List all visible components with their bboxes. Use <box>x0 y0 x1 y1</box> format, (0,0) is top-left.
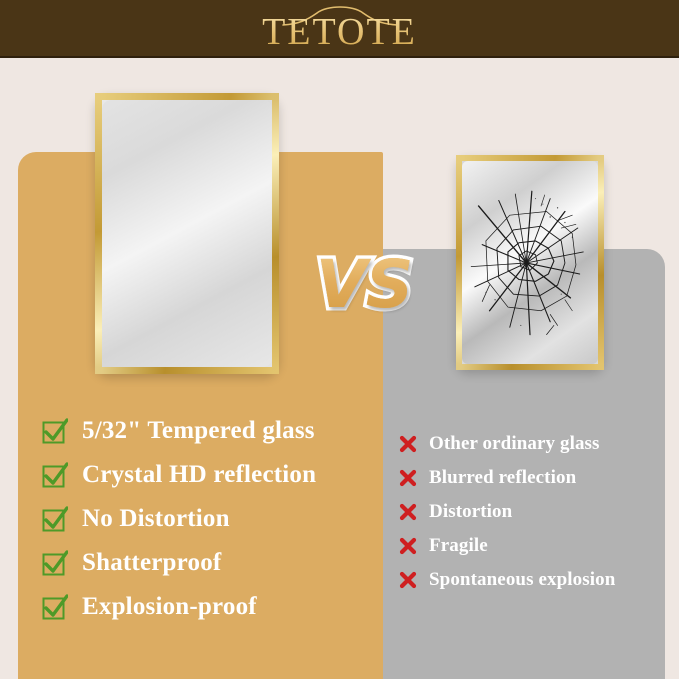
list-item-label: Fragile <box>429 535 488 557</box>
list-item: Other ordinary glass <box>399 427 669 461</box>
list-item: 5/32" Tempered glass <box>42 409 372 453</box>
list-item-label: 5/32" Tempered glass <box>82 417 315 445</box>
list-item-label: Distortion <box>429 501 512 523</box>
list-item: Shatterproof <box>42 541 372 585</box>
list-item-label: Explosion-proof <box>82 593 257 621</box>
list-item-label: Shatterproof <box>82 549 221 577</box>
bad-features-list: Other ordinary glass Blurred reflection … <box>399 427 669 597</box>
check-box-icon <box>42 594 68 620</box>
list-item-label: Blurred reflection <box>429 467 576 489</box>
tempered-glass-mirror-image <box>95 93 279 374</box>
check-box-icon <box>42 418 68 444</box>
good-features-list: 5/32" Tempered glass Crystal HD reflecti… <box>42 409 372 629</box>
list-item: Blurred reflection <box>399 461 669 495</box>
list-item: Distortion <box>399 495 669 529</box>
check-box-icon <box>42 550 68 576</box>
list-item-label: Crystal HD reflection <box>82 461 316 489</box>
list-item-label: No Distortion <box>82 505 230 533</box>
brand-logo: TETOTE <box>0 0 679 58</box>
brand-name: TETOTE <box>262 13 417 58</box>
cross-mark-icon <box>399 503 417 521</box>
cross-mark-icon <box>399 435 417 453</box>
list-item: Explosion-proof <box>42 585 372 629</box>
cross-mark-icon <box>399 537 417 555</box>
mirror-surface-clear <box>102 100 272 367</box>
list-item-label: Other ordinary glass <box>429 433 600 455</box>
ordinary-glass-mirror-image <box>456 155 604 370</box>
list-item: No Distortion <box>42 497 372 541</box>
brand-header-bar: TETOTE <box>0 0 679 58</box>
list-item: Spontaneous explosion <box>399 563 669 597</box>
product-comparison-infographic: TETOTE <box>0 0 679 679</box>
check-box-icon <box>42 506 68 532</box>
list-item: Fragile <box>399 529 669 563</box>
shattered-glass-icon <box>462 161 598 364</box>
cross-mark-icon <box>399 469 417 487</box>
mirror-surface-shattered <box>462 161 598 364</box>
check-box-icon <box>42 462 68 488</box>
list-item-label: Spontaneous explosion <box>429 569 615 591</box>
cross-mark-icon <box>399 571 417 589</box>
list-item: Crystal HD reflection <box>42 453 372 497</box>
